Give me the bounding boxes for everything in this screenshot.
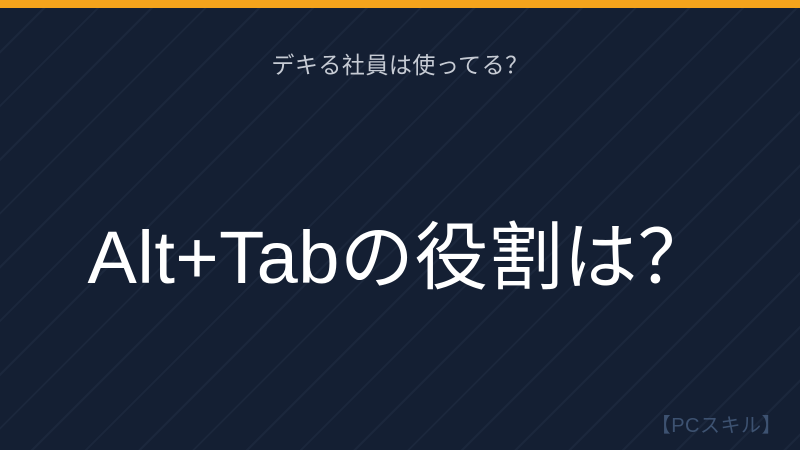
slide-subtitle: デキる社員は使ってる？ (0, 50, 800, 80)
slide-canvas: デキる社員は使ってる？ Alt+Tabの役割は？ 【PCスキル】 (0, 0, 800, 450)
slide-title: Alt+Tabの役割は？ (0, 213, 800, 303)
category-tag: 【PCスキル】 (651, 412, 782, 440)
top-accent-bar (0, 0, 800, 8)
